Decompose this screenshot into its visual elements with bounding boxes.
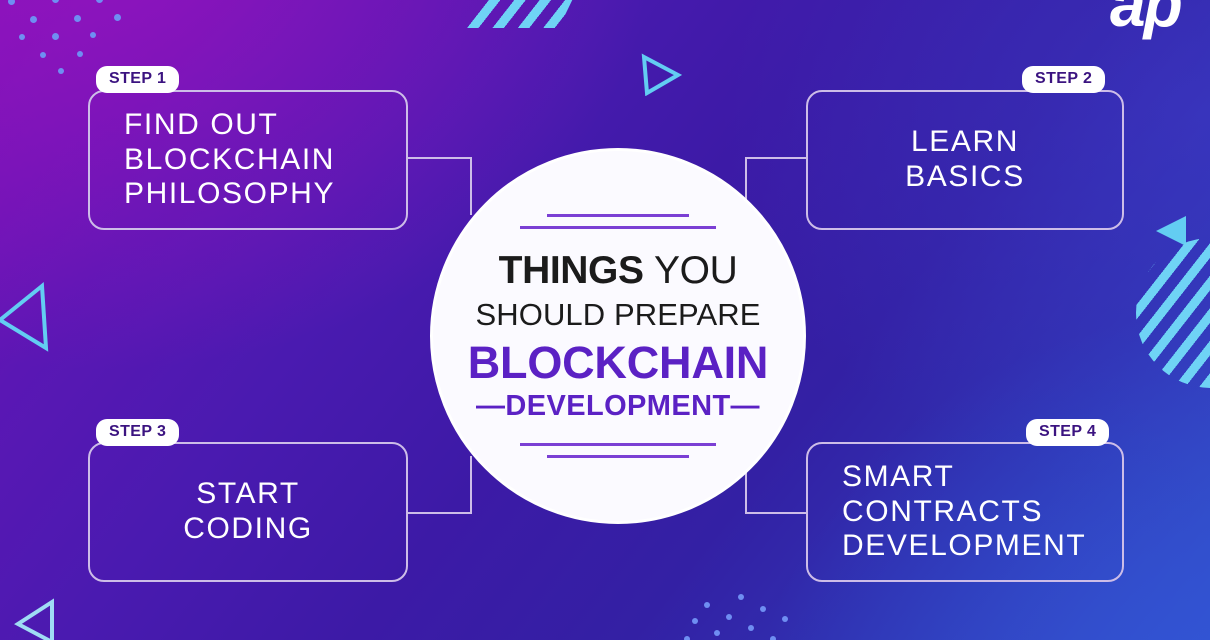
center-title-line-4: —DEVELOPMENT—	[476, 392, 760, 421]
step-box-4[interactable]: SMART CONTRACTS DEVELOPMENT	[806, 442, 1124, 582]
step-box-1-label: FIND OUT BLOCKCHAIN PHILOSOPHY	[90, 108, 406, 212]
triangle-solid-right-edge	[1154, 214, 1190, 248]
step-box-3-label: START CODING	[90, 477, 406, 547]
rule-bottom-short	[547, 455, 689, 458]
center-title-line-3: BLOCKCHAIN	[468, 340, 768, 385]
triangle-outline-bottom-left	[12, 598, 68, 640]
step-box-2-label: LEARN BASICS	[808, 125, 1122, 195]
step-box-4-label: SMART CONTRACTS DEVELOPMENT	[808, 460, 1122, 564]
step-box-1[interactable]: FIND OUT BLOCKCHAIN PHILOSOPHY	[88, 90, 408, 230]
brand-logo: ap	[1110, 0, 1181, 36]
center-title-line-2: SHOULD PREPARE	[475, 299, 760, 330]
center-circle: THINGS YOU SHOULD PREPARE BLOCKCHAIN —DE…	[430, 148, 806, 524]
center-title-line-1: THINGS YOU	[499, 251, 738, 290]
rule-top-short	[547, 214, 689, 217]
step-box-3[interactable]: START CODING	[88, 442, 408, 582]
rule-bottom-long	[520, 443, 716, 446]
infographic-canvas: ap FIND OUT BLOCKCHAIN PHILOSOPHY STEP 1…	[0, 0, 1210, 640]
rule-group-top	[520, 214, 716, 229]
connector-step1-horizontal	[406, 157, 472, 159]
step-box-2[interactable]: LEARN BASICS	[806, 90, 1124, 230]
connector-step3-vertical	[470, 456, 472, 514]
step-badge-3: STEP 3	[96, 419, 179, 446]
diagonal-stripes-top-center	[462, 0, 580, 28]
center-title-strong: THINGS	[499, 249, 644, 292]
connector-step3-horizontal	[406, 512, 472, 514]
connector-step1-vertical	[470, 157, 472, 215]
center-title-light: YOU	[654, 249, 737, 292]
triangle-outline-top-center	[640, 52, 682, 96]
triangle-outline-left-edge	[0, 278, 52, 354]
rule-group-bottom	[520, 443, 716, 458]
step-badge-1: STEP 1	[96, 66, 179, 93]
step-badge-4: STEP 4	[1026, 419, 1109, 446]
connector-step4-horizontal	[745, 512, 807, 514]
dot-cluster-bottom-center	[660, 592, 840, 640]
striped-circle-right-edge	[1136, 238, 1210, 388]
rule-top-long	[520, 226, 716, 229]
step-badge-2: STEP 2	[1022, 66, 1105, 93]
connector-step2-horizontal	[745, 157, 807, 159]
